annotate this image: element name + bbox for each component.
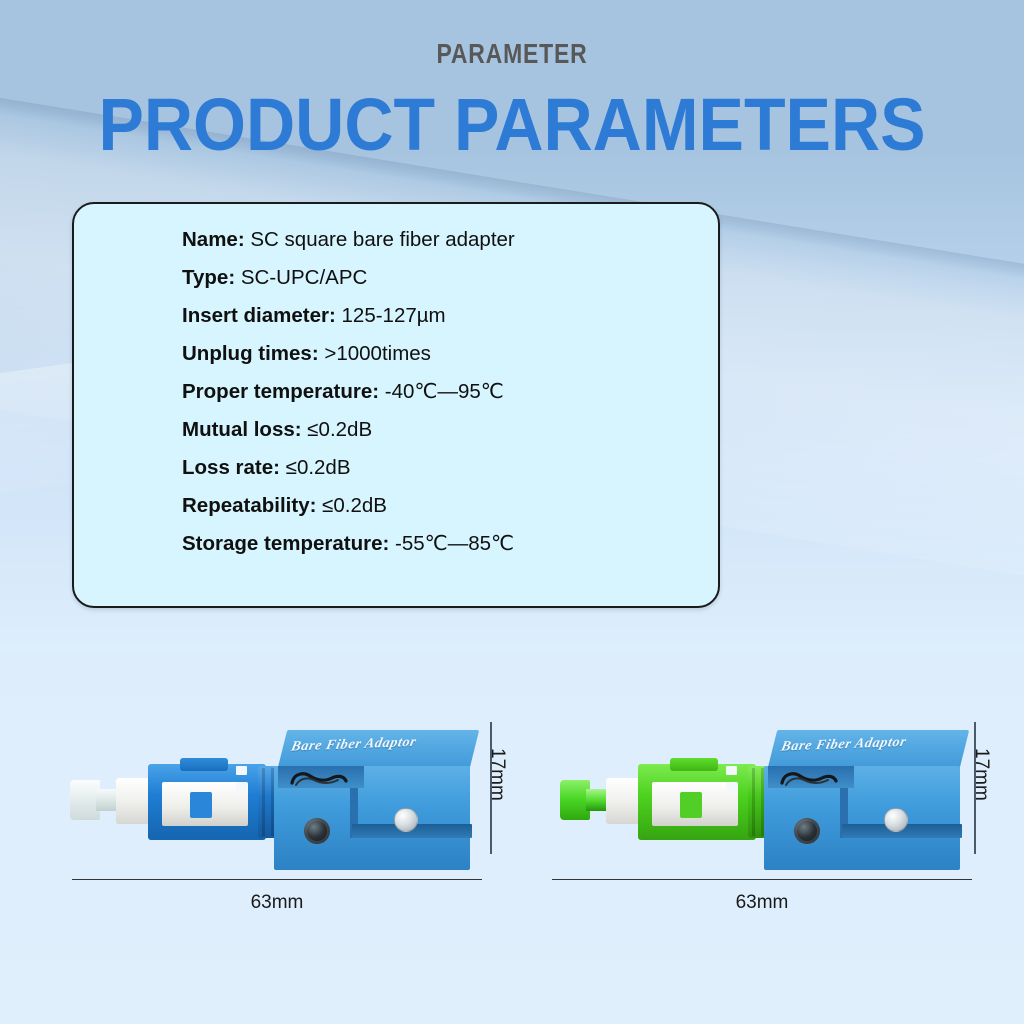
product-image-apc: SC-P Bare Fiber Adaptor [532,700,1002,930]
connector-notch [726,766,737,775]
spec-row: Insert diameter: 125-127µm [182,306,704,327]
sc-upc-assembly: SC-P Bare Fiber Adaptor [62,720,482,860]
adaptor-screw-hole [794,818,820,844]
spec-label: Unplug times: [182,342,319,365]
bare-fiber-adaptor-body: Bare Fiber Adaptor [764,730,974,880]
connector-latch [670,758,718,771]
spec-value: ≤0.2dB [307,418,372,441]
specifications-list: Name: SC square bare fiber adapter Type:… [182,230,704,572]
width-dimension-label: 63mm [552,892,972,914]
spec-row: Repeatability: ≤0.2dB [182,496,704,517]
spec-row: Unplug times: >1000times [182,344,704,365]
connector-window-slot [680,792,702,818]
spec-label: Type: [182,266,235,289]
spec-label: Proper temperature: [182,380,379,403]
header-subtitle: PARAMETER [92,38,932,70]
adaptor-screw-hole [304,818,330,844]
spec-value: ≤0.2dB [286,456,351,479]
width-dimension-label: 63mm [72,892,482,914]
width-dimension-line [72,879,482,880]
height-dimension-label: 17mm [970,748,992,801]
connector-notch [726,782,737,791]
page-title: PRODUCT PARAMETERS [41,88,983,162]
spec-row: Loss rate: ≤0.2dB [182,458,704,479]
spec-label: Repeatability: [182,494,316,517]
sc-apc-assembly: SC-P Bare Fiber Adaptor [552,720,972,860]
product-image-upc: SC-P Bare Fiber Adaptor [62,700,532,930]
clamp-spring-icon [778,770,840,788]
clamp-spring-icon [288,770,350,788]
product-parameters-page: PARAMETER PRODUCT PARAMETERS Name: SC sq… [0,0,1024,1024]
specifications-panel: Name: SC square bare fiber adapter Type:… [72,202,720,608]
spec-row: Type: SC-UPC/APC [182,268,704,289]
spec-label: Loss rate: [182,456,280,479]
spec-value: SC-UPC/APC [241,266,367,289]
adaptor-magnet-disc [394,808,418,832]
spec-row: Proper temperature: -40℃—95℃ [182,382,704,403]
adaptor-magnet-disc [884,808,908,832]
connector-notch [236,782,247,791]
spec-label: Storage temperature: [182,532,389,555]
bare-fiber-adaptor-body: Bare Fiber Adaptor [274,730,484,880]
connector-notch [236,766,247,775]
spec-label: Mutual loss: [182,418,302,441]
connector-window-slot [190,792,212,818]
spec-value: -40℃—95℃ [385,380,504,403]
spec-value: ≤0.2dB [322,494,387,517]
spec-row: Storage temperature: -55℃—85℃ [182,534,704,555]
spec-value: >1000times [324,342,431,365]
connector-latch [180,758,228,771]
width-dimension-line [552,879,972,880]
spec-value: SC square bare fiber adapter [250,228,514,251]
spec-label: Name: [182,228,245,251]
height-dimension-label: 17mm [486,748,508,801]
spec-value: -55℃—85℃ [395,532,514,555]
spec-label: Insert diameter: [182,304,336,327]
spec-row: Mutual loss: ≤0.2dB [182,420,704,441]
spec-row: Name: SC square bare fiber adapter [182,230,704,251]
spec-value: 125-127µm [342,304,446,327]
